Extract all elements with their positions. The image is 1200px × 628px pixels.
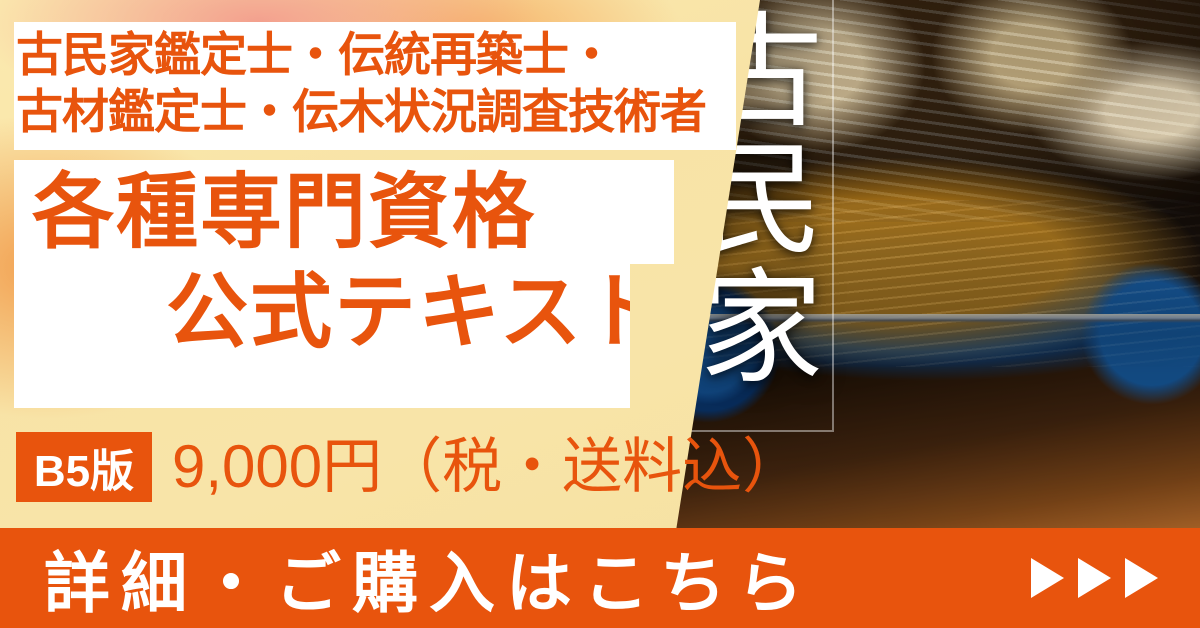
cta-arrow-group — [1031, 558, 1158, 598]
triangle-right-icon — [1125, 558, 1158, 598]
triangle-right-icon — [1031, 558, 1064, 598]
cta-bar[interactable]: 詳細・ご購入はこちら — [0, 528, 1200, 628]
promo-banner: 古民家 伝統構法 古民家活用のための調査と再生の 古民家鑑定士・伝統再築士・ 古… — [0, 0, 1200, 628]
cta-label: 詳細・ご購入はこちら — [44, 530, 814, 626]
main-title-panel: 各種専門資格 公式テキスト — [14, 160, 674, 408]
price-text: 9,000円（税・送料込） — [172, 434, 802, 500]
triangle-right-icon — [1078, 558, 1111, 598]
main-title-line-2: 公式テキスト — [166, 272, 668, 354]
main-title-line-1: 各種専門資格 — [32, 172, 536, 254]
headline-line-2: 古材鑑定士・伝木状況調査技術者 — [16, 83, 736, 140]
headline-line-1: 古民家鑑定士・伝統再築士・ — [16, 26, 736, 83]
format-badge: B5版 — [16, 432, 152, 502]
headline-text: 古民家鑑定士・伝統再築士・ 古材鑑定士・伝木状況調査技術者 — [16, 26, 736, 141]
